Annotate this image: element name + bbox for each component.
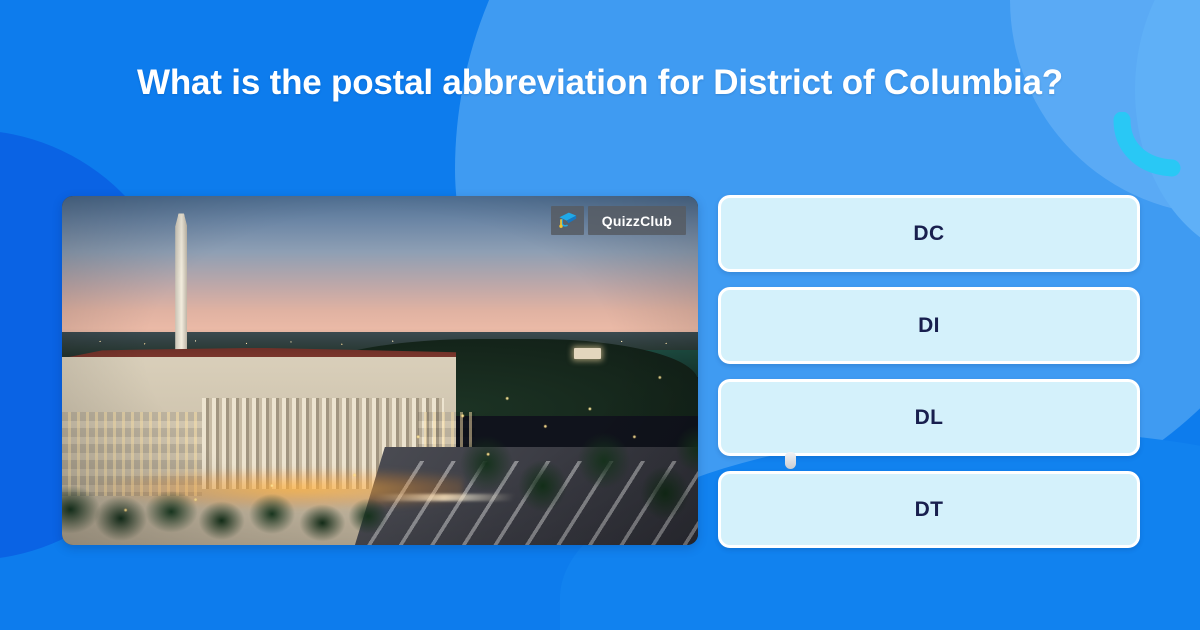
answer-option-4-label: DT (915, 498, 944, 522)
answer-option-2-label: DI (918, 314, 940, 338)
graduation-cap-icon (551, 206, 584, 235)
watermark-brand-name: QuizzClub (588, 206, 686, 235)
answer-option-2[interactable]: DI (718, 287, 1140, 364)
question-title: What is the postal abbreviation for Dist… (0, 62, 1200, 104)
question-image (62, 196, 698, 545)
answer-options-list: DC DI DL DT (718, 195, 1140, 548)
question-title-bar: What is the postal abbreviation for Dist… (0, 62, 1200, 104)
answer-option-1-label: DC (913, 222, 944, 246)
watermark-badge: QuizzClub (551, 206, 686, 235)
question-image-card: QuizzClub (62, 196, 698, 545)
answer-option-3-label: DL (915, 406, 944, 430)
answer-option-1[interactable]: DC (718, 195, 1140, 272)
answer-option-3[interactable]: DL (718, 379, 1140, 456)
answer-option-4[interactable]: DT (718, 471, 1140, 548)
drag-handle[interactable] (785, 452, 796, 469)
photo-vignette (62, 196, 698, 545)
cyan-swoosh-accent-icon (1110, 112, 1188, 180)
